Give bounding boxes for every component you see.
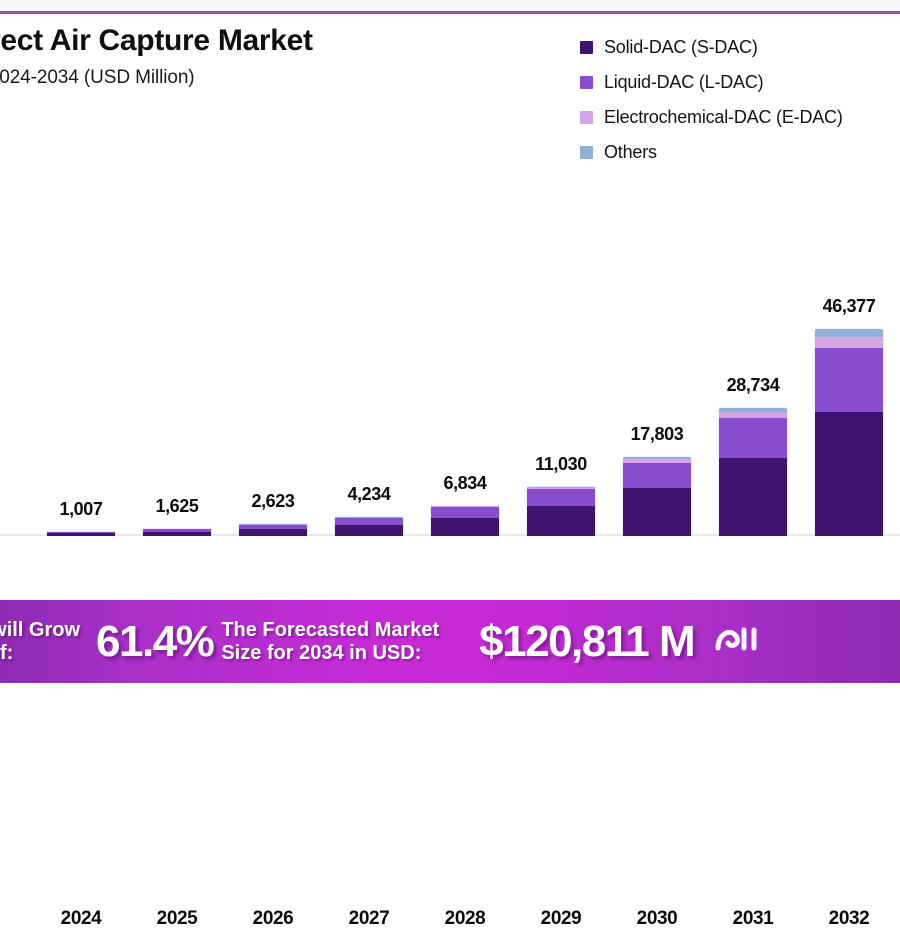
cagr-caption-line2: At a CAGR of: — [0, 642, 80, 665]
chart-legend: Solid-DAC (S-DAC)Liquid-DAC (L-DAC)Elect… — [580, 30, 900, 170]
bar-segment[interactable] — [719, 458, 787, 536]
legend-swatch-icon — [580, 41, 593, 54]
legend-item-label: Electrochemical-DAC (E-DAC) — [604, 107, 843, 128]
cagr-caption: The Market will Grow At a CAGR of: — [0, 619, 80, 665]
bar-segment[interactable] — [239, 529, 307, 536]
x-axis-tick-label: 2027 — [321, 908, 417, 930]
summary-banner-content: The Market will Grow At a CAGR of: 61.4%… — [0, 617, 760, 667]
x-axis-tick-label: 2032 — [801, 908, 897, 930]
bar-value-label: 1,007 — [33, 499, 129, 520]
bar-segment[interactable] — [335, 518, 403, 525]
bar-value-label: 1,625 — [129, 496, 225, 517]
stacked-bar[interactable] — [239, 524, 307, 536]
legend-swatch-icon — [580, 146, 593, 159]
stacked-bar[interactable] — [335, 517, 403, 536]
bar-segment[interactable] — [431, 507, 499, 518]
forecast-value: $120,811 M — [479, 617, 694, 667]
bar-value-label: 28,734 — [705, 375, 801, 396]
forecast-caption: The Forecasted Market Size for 2034 in U… — [221, 619, 439, 665]
summary-banner: The Market will Grow At a CAGR of: 61.4%… — [0, 600, 900, 683]
chart-page: Global Direct Air Capture Market by Tech… — [0, 0, 900, 700]
forecast-caption-line2: Size for 2034 in USD: — [221, 642, 439, 665]
bar-value-label: 11,030 — [513, 454, 609, 475]
bar-segment[interactable] — [719, 418, 787, 458]
x-axis-tick-label: 2024 — [33, 908, 129, 930]
chart-header: Global Direct Air Capture Market by Tech… — [0, 24, 560, 89]
bar-segment[interactable] — [623, 488, 691, 536]
stacked-bar[interactable] — [143, 529, 211, 536]
legend-item: Electrochemical-DAC (E-DAC) — [580, 100, 900, 135]
banner-bottom-spacer — [0, 683, 900, 700]
cagr-value: 61.4% — [96, 617, 213, 667]
x-axis-tick-label: 2028 — [417, 908, 513, 930]
legend-item-label: Others — [604, 142, 657, 163]
bar-value-label: 46,377 — [801, 296, 897, 317]
bar-segment[interactable] — [527, 489, 595, 506]
x-axis-tick-label: 2029 — [513, 908, 609, 930]
bar-segment[interactable] — [815, 337, 883, 347]
bar-segment[interactable] — [623, 463, 691, 488]
x-axis-tick-label: 2030 — [609, 908, 705, 930]
stacked-bar[interactable] — [815, 329, 883, 536]
top-accent-rule — [0, 11, 900, 14]
legend-item: Liquid-DAC (L-DAC) — [580, 65, 900, 100]
legend-item-label: Liquid-DAC (L-DAC) — [604, 72, 763, 93]
cagr-caption-line1: The Market will Grow — [0, 619, 80, 642]
bar-value-label: 4,234 — [321, 484, 417, 505]
x-axis-band — [0, 536, 900, 600]
chart-subtitle: by Technology, 2024-2034 (USD Million) — [0, 67, 560, 89]
legend-item-label: Solid-DAC (S-DAC) — [604, 37, 758, 58]
bar-value-label: 6,834 — [417, 473, 513, 494]
bar-segment[interactable] — [815, 329, 883, 337]
bar-segment[interactable] — [527, 506, 595, 536]
x-axis-tick-label: 2026 — [225, 908, 321, 930]
bar-segment[interactable] — [335, 525, 403, 536]
page-title: Global Direct Air Capture Market — [0, 24, 560, 59]
bar-value-label: 2,623 — [225, 491, 321, 512]
bar-value-label: 17,803 — [609, 424, 705, 445]
x-axis-tick-label: 2025 — [129, 908, 225, 930]
bar-segment[interactable] — [815, 412, 883, 536]
stacked-bar[interactable] — [623, 457, 691, 536]
forecast-caption-line1: The Forecasted Market — [221, 619, 439, 642]
legend-swatch-icon — [580, 76, 593, 89]
stacked-bar[interactable] — [431, 506, 499, 537]
x-axis-tick-label: 2031 — [705, 908, 801, 930]
bar-segment[interactable] — [815, 348, 883, 412]
legend-swatch-icon — [580, 111, 593, 124]
legend-item: Solid-DAC (S-DAC) — [580, 30, 900, 65]
legend-item: Others — [580, 135, 900, 170]
top-strip — [0, 0, 900, 11]
bar-chart-plot: 1,00720241,62520252,62320264,23420276,83… — [0, 170, 900, 536]
bar-segment[interactable] — [431, 518, 499, 536]
stacked-bar[interactable] — [719, 408, 787, 536]
stacked-bar[interactable] — [527, 487, 595, 536]
logo-mark-icon — [714, 622, 760, 661]
